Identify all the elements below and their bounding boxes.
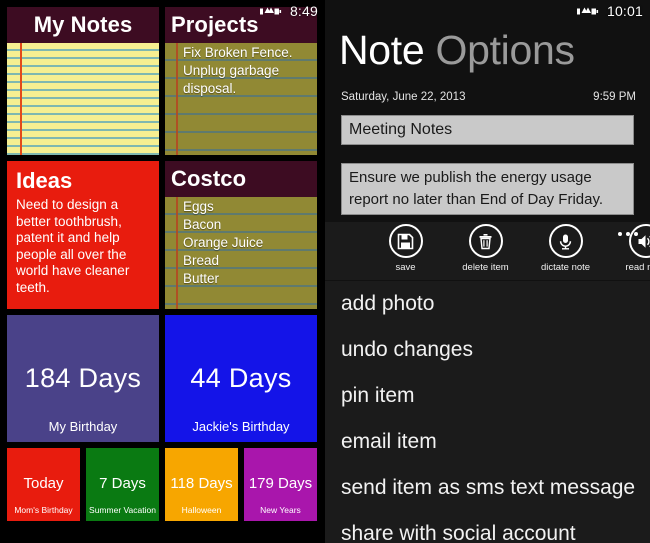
paper-margin-line (20, 43, 22, 155)
list-item: Orange Juice (183, 234, 313, 252)
menu-item-email-item[interactable]: email item (325, 419, 650, 465)
tile-my-notes-title: My Notes (34, 12, 133, 38)
note-time: 9:59 PM (593, 91, 636, 103)
tile-row-4: Today Mom's Birthday 7 Days Summer Vacat… (7, 448, 318, 521)
countdown-days: 179 Days (244, 475, 317, 492)
countdown-label: My Birthday (7, 419, 159, 434)
tile-my-notes-paper (7, 43, 159, 155)
note-body-input[interactable]: Ensure we publish the energy usage repor… (341, 163, 634, 215)
right-status-bar: 10:01 (325, 0, 650, 22)
list-item: Bacon (183, 216, 313, 234)
paper-margin-line (176, 197, 178, 309)
tile-costco-lines: Eggs Bacon Orange Juice Bread Butter (183, 198, 313, 288)
countdown-label: New Years (244, 505, 317, 515)
tile-ideas-body: Need to design a better toothbrush, pate… (16, 197, 150, 296)
tile-countdown-halloween[interactable]: 118 Days Halloween (165, 448, 238, 521)
dual-phone-screenshot: 8:49 My Notes Projects (0, 0, 650, 543)
start-screen: 8:49 My Notes Projects (0, 0, 325, 543)
tile-row-1: My Notes Projects Fix Broken Fence. (7, 7, 318, 155)
tile-projects-title: Projects (171, 12, 259, 38)
list-item: Unplug garbage (183, 62, 313, 80)
tile-projects[interactable]: Projects Fix Broken Fence. Unplug garbag… (165, 7, 317, 155)
countdown-days: 7 Days (86, 475, 159, 492)
right-clock: 10:01 (607, 3, 643, 19)
tile-countdown-new-years[interactable]: 179 Days New Years (244, 448, 317, 521)
countdown-days: 118 Days (165, 475, 238, 492)
menu-item-send-sms[interactable]: send item as sms text message (325, 465, 650, 511)
note-options-screen: 10:01 Note Options Saturday, June 22, 20… (325, 0, 650, 543)
save-button[interactable]: save (377, 224, 434, 273)
tile-projects-header: Projects (165, 7, 317, 43)
tile-projects-paper: Fix Broken Fence. Unplug garbage disposa… (165, 43, 317, 155)
countdown-label: Mom's Birthday (7, 505, 80, 515)
tile-grid: My Notes Projects Fix Broken Fence. (7, 7, 318, 527)
dictate-note-button[interactable]: dictate note (537, 224, 594, 273)
tile-costco-title: Costco (171, 166, 246, 192)
tile-costco-header: Costco (165, 161, 317, 197)
dictate-note-label: dictate note (541, 262, 590, 273)
list-item: Fix Broken Fence. (183, 44, 313, 62)
countdown-days: 44 Days (165, 363, 317, 394)
app-bar-buttons: save delete item (377, 224, 650, 273)
page-title-main: Note (339, 27, 436, 73)
note-body-value: Ensure we publish the energy usage repor… (349, 169, 603, 208)
read-note-button[interactable]: read note (617, 224, 650, 273)
menu-item-share-social[interactable]: share with social account (325, 511, 650, 543)
signal-battery-icon (577, 6, 599, 17)
tile-costco[interactable]: Costco Eggs Bacon Orange Juice Bread But… (165, 161, 317, 309)
list-item: Eggs (183, 198, 313, 216)
list-item: disposal. (183, 80, 313, 98)
list-item: Bread (183, 252, 313, 270)
note-title-input[interactable]: Meeting Notes (341, 115, 634, 145)
speaker-icon (629, 224, 650, 258)
menu-item-undo-changes[interactable]: undo changes (325, 327, 650, 373)
tile-row-3: 184 Days My Birthday 44 Days Jackie's Bi… (7, 315, 318, 442)
countdown-label: Halloween (165, 505, 238, 515)
countdown-days: Today (7, 475, 80, 492)
delete-item-button[interactable]: delete item (457, 224, 514, 273)
options-menu: add photo undo changes pin item email it… (325, 281, 650, 543)
tile-my-notes[interactable]: My Notes (7, 7, 159, 155)
tile-countdown-my-birthday[interactable]: 184 Days My Birthday (7, 315, 159, 442)
menu-item-pin-item[interactable]: pin item (325, 373, 650, 419)
paper-margin-line (176, 43, 178, 155)
tile-countdown-summer-vacation[interactable]: 7 Days Summer Vacation (86, 448, 159, 521)
countdown-label: Summer Vacation (86, 505, 159, 515)
delete-item-label: delete item (462, 262, 508, 273)
note-date: Saturday, June 22, 2013 (341, 91, 465, 103)
microphone-icon (549, 224, 583, 258)
tile-countdown-moms-birthday[interactable]: Today Mom's Birthday (7, 448, 80, 521)
countdown-days: 184 Days (7, 363, 159, 394)
tile-projects-lines: Fix Broken Fence. Unplug garbage disposa… (183, 44, 313, 98)
save-label: save (395, 262, 415, 273)
page-title: Note Options (339, 27, 640, 74)
app-bar: save delete item (325, 222, 650, 280)
page-title-sub: Options (436, 27, 575, 73)
trash-icon (469, 224, 503, 258)
list-item: Butter (183, 270, 313, 288)
note-meta: Saturday, June 22, 2013 9:59 PM (341, 91, 636, 103)
countdown-label: Jackie's Birthday (165, 419, 317, 434)
tile-my-notes-header: My Notes (7, 7, 159, 43)
note-title-value: Meeting Notes (349, 121, 452, 139)
save-icon (389, 224, 423, 258)
menu-item-add-photo[interactable]: add photo (325, 281, 650, 327)
tile-ideas[interactable]: Ideas Need to design a better toothbrush… (7, 161, 159, 309)
tile-ideas-title: Ideas (16, 168, 150, 194)
tile-costco-paper: Eggs Bacon Orange Juice Bread Butter (165, 197, 317, 309)
tile-row-2: Ideas Need to design a better toothbrush… (7, 161, 318, 309)
tile-countdown-jackies-birthday[interactable]: 44 Days Jackie's Birthday (165, 315, 317, 442)
read-note-label: read note (625, 262, 650, 273)
